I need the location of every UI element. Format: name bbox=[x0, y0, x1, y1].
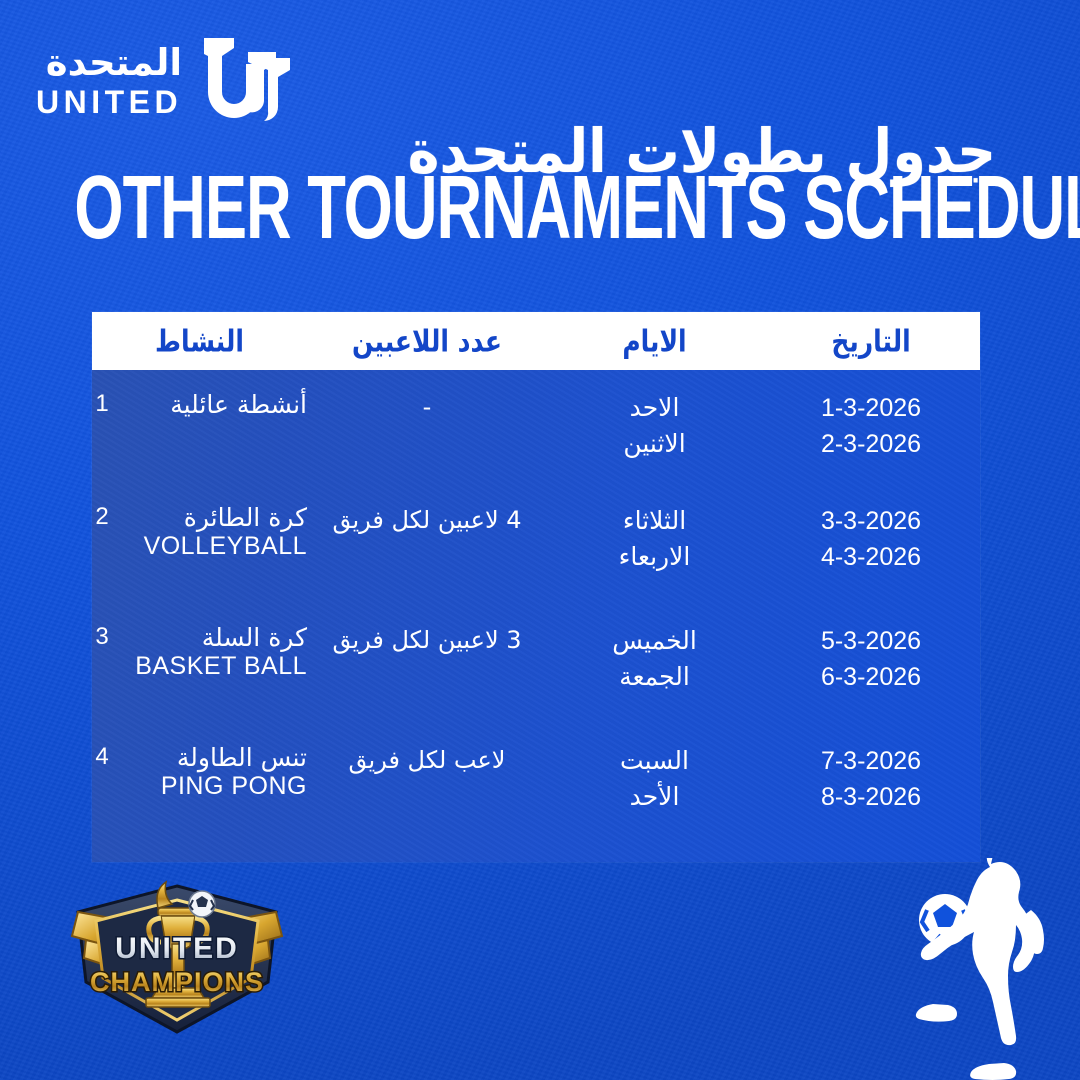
schedule-panel: التاريخ الايام عدد اللاعبين النشاط 1-3-2… bbox=[92, 312, 980, 862]
cell-activity: 3 كرة السلة BASKET BALL bbox=[92, 623, 307, 681]
cell-activity: 1 أنشطة عائلية bbox=[92, 390, 307, 420]
cell-date: 7-3-2026 8-3-2026 bbox=[762, 743, 980, 816]
day-line-2: الاربعاء bbox=[547, 539, 762, 575]
day-line-2: الجمعة bbox=[547, 659, 762, 695]
row-number: 4 bbox=[92, 743, 112, 771]
cell-days: الاحد الاثنين bbox=[547, 390, 762, 463]
table-row[interactable]: 7-3-2026 8-3-2026 السبت الأحد لاعب لكل ف… bbox=[92, 729, 980, 849]
activity-text: أنشطة عائلية bbox=[122, 390, 307, 420]
date-line-2: 2-3-2026 bbox=[762, 426, 980, 462]
cell-players: 3 لاعبين لكل فريق bbox=[307, 623, 547, 658]
cell-players: - bbox=[307, 390, 547, 425]
date-line-2: 6-3-2026 bbox=[762, 659, 980, 695]
activity-english: PING PONG bbox=[161, 772, 307, 800]
table-row[interactable]: 1-3-2026 2-3-2026 الاحد الاثنين - 1 أنشط… bbox=[92, 376, 980, 489]
footballer-juggling-silhouette-icon bbox=[905, 858, 1070, 1080]
activity-text: كرة الطائرة VOLLEYBALL bbox=[122, 503, 307, 561]
date-line-1: 1-3-2026 bbox=[762, 390, 980, 426]
day-line-1: الاحد bbox=[547, 390, 762, 426]
cell-activity: 2 كرة الطائرة VOLLEYBALL bbox=[92, 503, 307, 561]
activity-arabic: تنس الطاولة bbox=[177, 743, 307, 772]
activity-arabic: كرة الطائرة bbox=[184, 503, 307, 532]
activity-arabic: كرة السلة bbox=[202, 623, 307, 652]
table-header-row: التاريخ الايام عدد اللاعبين النشاط bbox=[92, 312, 980, 370]
activity-arabic: أنشطة عائلية bbox=[170, 390, 307, 419]
row-number: 3 bbox=[92, 623, 112, 651]
activity-text: تنس الطاولة PING PONG bbox=[122, 743, 307, 801]
column-header-days: الايام bbox=[547, 324, 762, 359]
day-line-2: الاثنين bbox=[547, 426, 762, 462]
row-number: 2 bbox=[92, 503, 112, 531]
table-row[interactable]: 9-3-2026 10-3-2026 الاثنين الثلاثاء لاعب… bbox=[92, 849, 980, 862]
united-logo-mark-icon bbox=[198, 34, 296, 122]
brand-name-arabic: المتحدة bbox=[46, 44, 182, 81]
day-line-1: الثلاثاء bbox=[547, 503, 762, 539]
date-line-2: 4-3-2026 bbox=[762, 539, 980, 575]
united-champions-emblem: UNITED CHAMPIONS bbox=[62, 878, 292, 1038]
table-row[interactable]: 3-3-2026 4-3-2026 الثلاثاء الاربعاء 4 لا… bbox=[92, 489, 980, 609]
table-row[interactable]: 5-3-2026 6-3-2026 الخميس الجمعة 3 لاعبين… bbox=[92, 609, 980, 729]
cell-date: 5-3-2026 6-3-2026 bbox=[762, 623, 980, 696]
date-line-1: 7-3-2026 bbox=[762, 743, 980, 779]
cell-players: 4 لاعبين لكل فريق bbox=[307, 503, 547, 538]
page-title-block: جدول بطولات المتحدة OTHER TOURNAMENTS SC… bbox=[84, 128, 1044, 254]
poster-stage: المتحدة UNITED جدول بطولات المتحدة OTHER… bbox=[0, 0, 1080, 1080]
cell-days: الخميس الجمعة bbox=[547, 623, 762, 696]
date-line-1: 5-3-2026 bbox=[762, 623, 980, 659]
activity-english: VOLLEYBALL bbox=[144, 532, 307, 560]
column-header-activity: النشاط bbox=[92, 324, 307, 359]
day-line-2: الأحد bbox=[547, 779, 762, 815]
emblem-line-2: CHAMPIONS bbox=[90, 967, 264, 997]
cell-players: لاعب لكل فريق bbox=[307, 743, 547, 778]
table-body: 1-3-2026 2-3-2026 الاحد الاثنين - 1 أنشط… bbox=[92, 370, 980, 862]
cell-days: السبت الأحد bbox=[547, 743, 762, 816]
page-title-english: OTHER TOURNAMENTS SCHEDULE bbox=[74, 164, 1053, 254]
row-number: 1 bbox=[92, 390, 112, 418]
date-line-2: 8-3-2026 bbox=[762, 779, 980, 815]
activity-english: BASKET BALL bbox=[135, 652, 307, 680]
cell-days: الثلاثاء الاربعاء bbox=[547, 503, 762, 576]
cell-activity: 4 تنس الطاولة PING PONG bbox=[92, 743, 307, 801]
cell-date: 1-3-2026 2-3-2026 bbox=[762, 390, 980, 463]
activity-text: كرة السلة BASKET BALL bbox=[122, 623, 307, 681]
brand-wordmark: المتحدة UNITED bbox=[36, 44, 182, 122]
brand-logo: المتحدة UNITED bbox=[36, 34, 296, 122]
day-line-1: الخميس bbox=[547, 623, 762, 659]
date-line-1: 3-3-2026 bbox=[762, 503, 980, 539]
column-header-date: التاريخ bbox=[762, 324, 980, 359]
emblem-line-1: UNITED bbox=[115, 932, 239, 965]
brand-name-english: UNITED bbox=[36, 86, 182, 118]
cell-date: 3-3-2026 4-3-2026 bbox=[762, 503, 980, 576]
column-header-players: عدد اللاعبين bbox=[307, 324, 547, 359]
day-line-1: السبت bbox=[547, 743, 762, 779]
